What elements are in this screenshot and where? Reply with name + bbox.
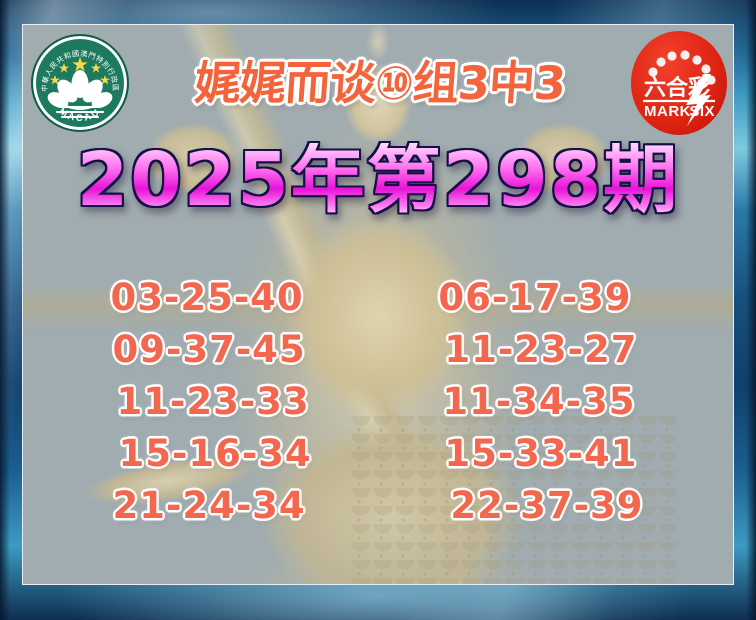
poster-header: 中華人民共和國澳門特別行政區 bbox=[23, 25, 733, 141]
number-group: 03-25-40 bbox=[53, 279, 361, 316]
number-group: 22-37-39 bbox=[393, 487, 701, 524]
mark-six-latin-left: MARK bbox=[644, 103, 691, 120]
number-row: 15-16-34 15-33-41 bbox=[57, 427, 699, 479]
number-row: 21-24-34 22-37-39 bbox=[57, 479, 699, 531]
number-group: 15-16-34 bbox=[61, 435, 369, 472]
number-group: 11-34-35 bbox=[385, 383, 693, 420]
number-row: 03-25-40 06-17-39 bbox=[57, 271, 699, 323]
number-row: 09-37-45 11-23-27 bbox=[57, 323, 699, 375]
number-group: 11-23-33 bbox=[59, 383, 367, 420]
mark-six-artwork: 六合彩 MARK SIX bbox=[631, 31, 727, 135]
number-group: 09-37-45 bbox=[55, 331, 363, 368]
lotus-flower bbox=[45, 70, 115, 111]
macau-emblem: 中華人民共和國澳門特別行政區 bbox=[31, 34, 129, 132]
mark-six-logo: 六合彩 MARK SIX bbox=[631, 31, 727, 135]
poster-panel: 中華人民共和國澳門特別行政區 bbox=[22, 24, 734, 585]
number-group: 15-33-41 bbox=[387, 435, 695, 472]
number-group: 06-17-39 bbox=[381, 279, 689, 316]
number-row: 11-23-33 11-34-35 bbox=[57, 375, 699, 427]
number-grid: 03-25-40 06-17-39 09-37-45 11-23-27 11-2… bbox=[23, 271, 733, 531]
period-title: 2025年第298期 bbox=[23, 143, 733, 217]
number-group: 21-24-34 bbox=[55, 487, 363, 524]
poster-headline: 娓娓而谈⑩组3中3 bbox=[127, 60, 632, 106]
lottery-poster: 中華人民共和國澳門特別行政區 bbox=[0, 0, 756, 620]
number-group: 11-23-27 bbox=[387, 331, 695, 368]
emblem-artwork: 中華人民共和國澳門特別行政區 bbox=[31, 34, 129, 132]
